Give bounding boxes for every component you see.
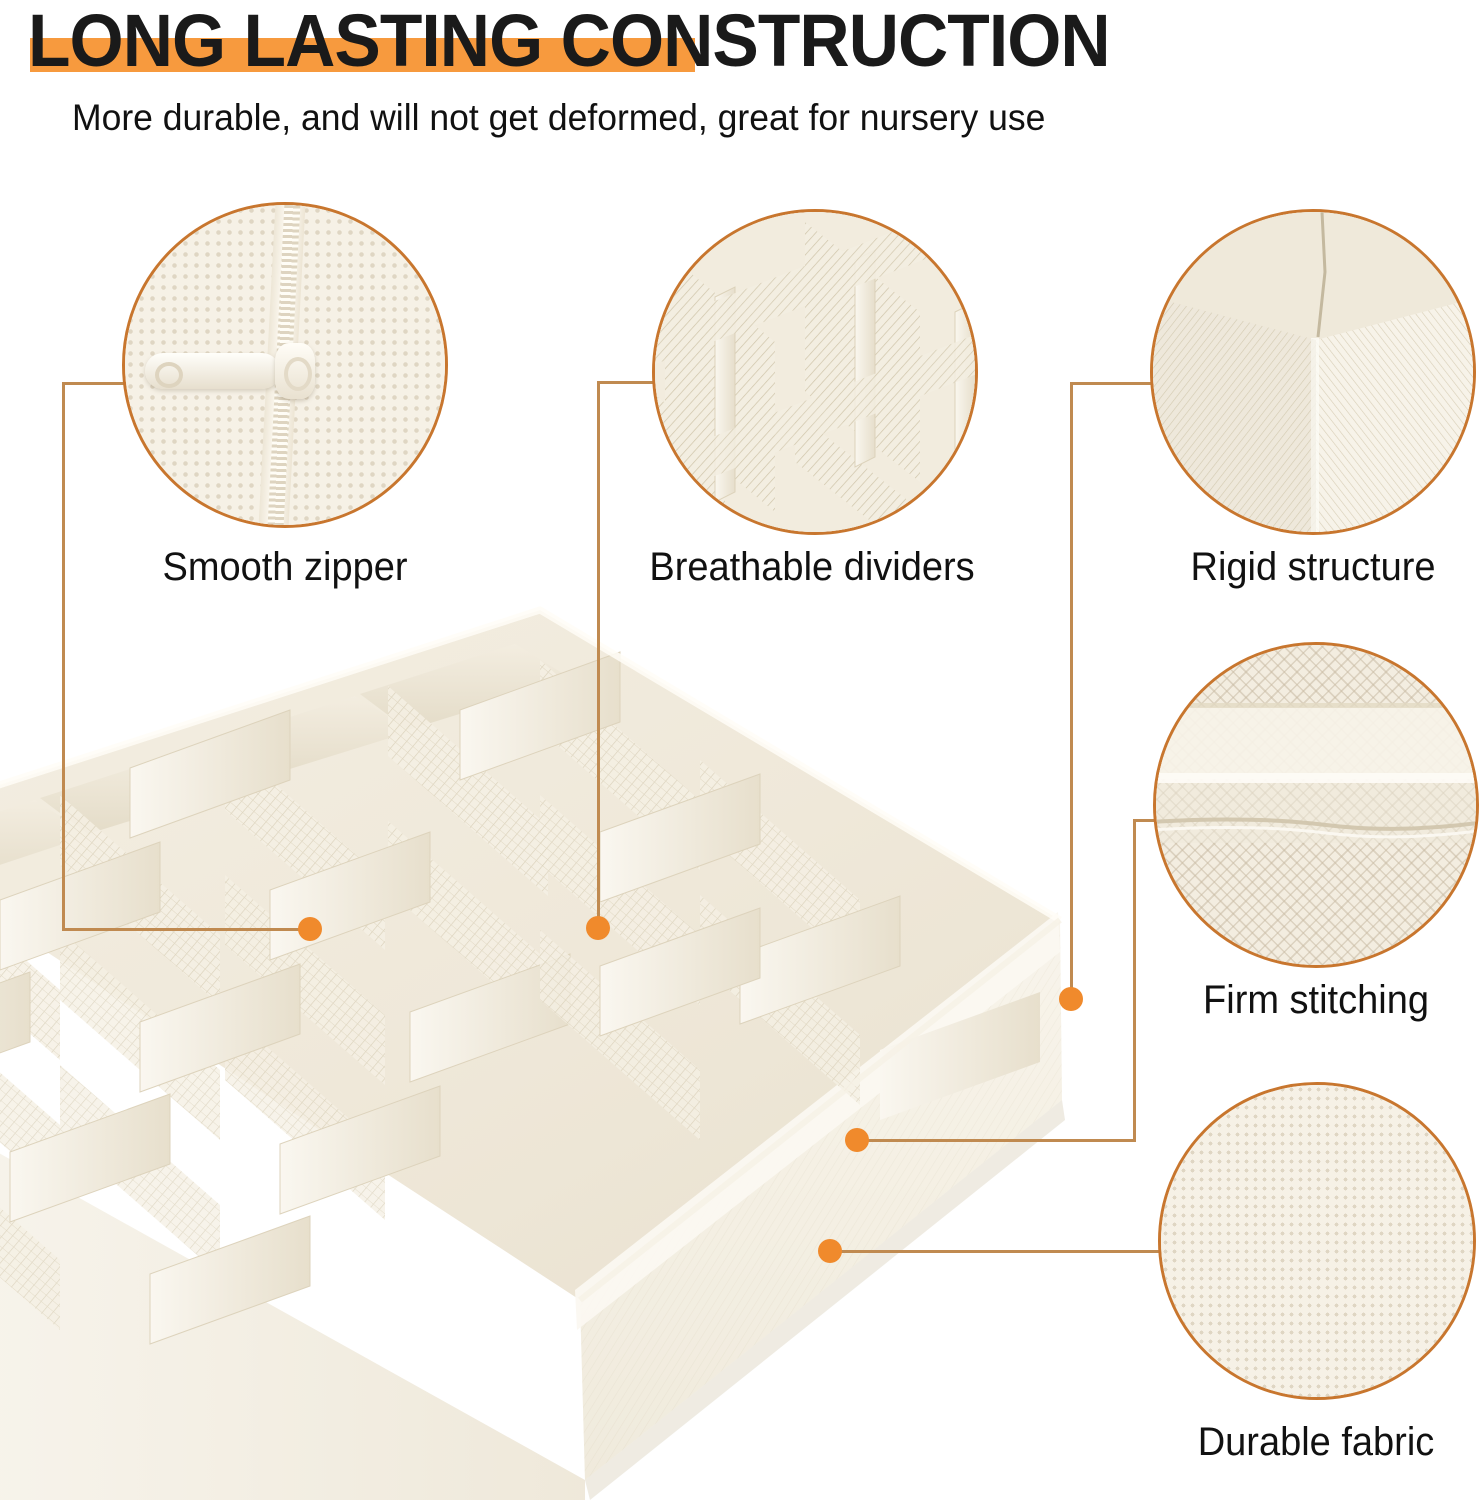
connector-breathable-dividers-seg2 <box>597 381 600 929</box>
connector-smooth-zipper-seg3 <box>62 928 312 931</box>
page-title: LONG LASTING CONSTRUCTION <box>28 0 1110 83</box>
product-image <box>0 600 1100 1500</box>
header-block: LONG LASTING CONSTRUCTION <box>0 0 1483 90</box>
callout-label-firm-stitching: Firm stitching <box>1126 978 1483 1023</box>
connector-durable-fabric-seg1 <box>830 1250 1162 1253</box>
zipper-pull-tab <box>145 353 280 389</box>
hotspot-dot-breathable-dividers <box>586 916 610 940</box>
hotspot-dot-firm-stitching <box>845 1128 869 1152</box>
hotspot-dot-rigid-structure <box>1059 987 1083 1011</box>
callout-image-durable-fabric <box>1158 1082 1476 1400</box>
infographic-page: LONG LASTING CONSTRUCTION More durable, … <box>0 0 1483 1500</box>
stitching-closeup-art <box>1156 645 1479 968</box>
connector-smooth-zipper-seg2 <box>62 382 65 929</box>
zipper-slider <box>275 343 315 399</box>
callout-label-rigid-structure: Rigid structure <box>1104 545 1483 590</box>
connector-breathable-dividers-seg1 <box>597 381 655 384</box>
page-subtitle: More durable, and will not get deformed,… <box>72 97 1045 139</box>
connector-rigid-structure-seg1 <box>1070 382 1152 385</box>
corner-closeup-art <box>1153 212 1476 535</box>
callout-label-breathable-dividers: Breathable dividers <box>575 545 1050 590</box>
callout-image-smooth-zipper <box>122 202 448 528</box>
callout-image-rigid-structure <box>1150 209 1476 535</box>
connector-firm-stitching-seg3 <box>857 1139 1136 1142</box>
callout-label-durable-fabric: Durable fabric <box>1136 1420 1483 1465</box>
connector-smooth-zipper-seg1 <box>62 382 124 385</box>
callout-image-firm-stitching <box>1153 642 1479 968</box>
durable-fabric-texture <box>1161 1085 1473 1397</box>
divider-closeup-art <box>655 212 978 535</box>
callout-image-breathable-dividers <box>652 209 978 535</box>
hotspot-dot-smooth-zipper <box>298 917 322 941</box>
product-illustration <box>0 600 1100 1500</box>
callout-label-smooth-zipper: Smooth zipper <box>95 545 475 590</box>
hotspot-dot-durable-fabric <box>818 1239 842 1263</box>
connector-rigid-structure-seg2 <box>1070 382 1073 1000</box>
